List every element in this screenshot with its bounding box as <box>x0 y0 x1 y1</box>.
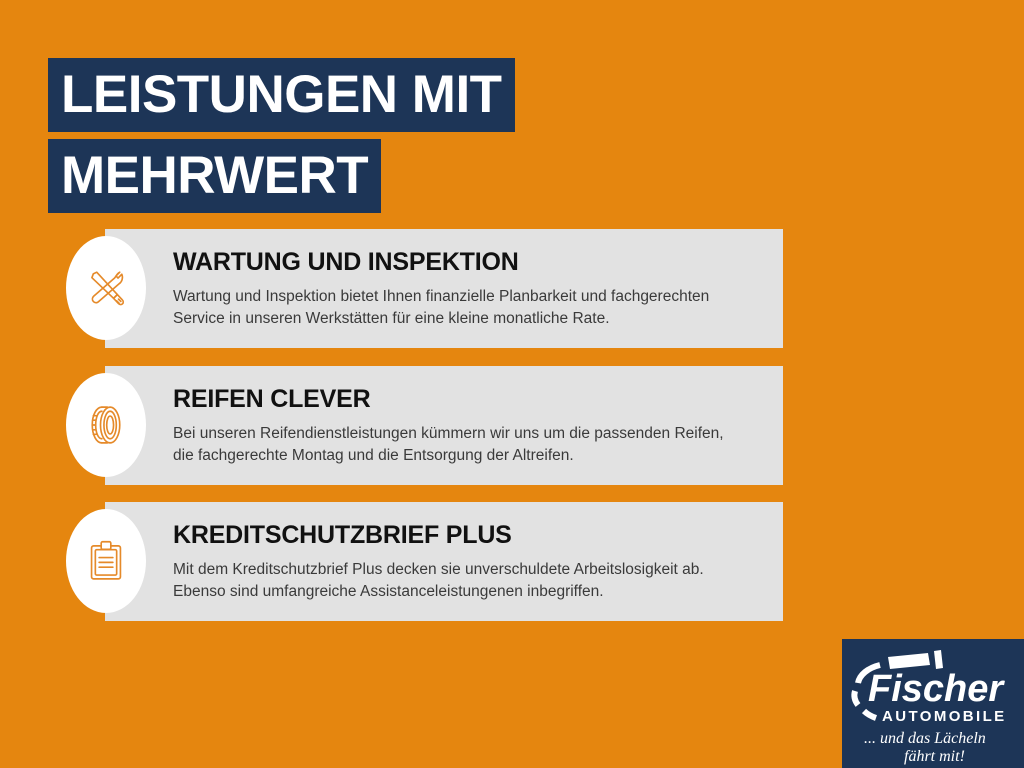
company-logo: Fischer AUTOMOBILE ... und das Lächeln f… <box>842 639 1024 768</box>
service-card-body: Mit dem Kreditschutzbrief Plus decken si… <box>173 559 759 604</box>
service-card-title: REIFEN CLEVER <box>173 386 759 414</box>
service-card-body: Wartung und Inspektion bietet Ihnen fina… <box>173 286 759 331</box>
logo-tagline-line2: fährt mit! <box>904 748 965 765</box>
logo-tagline-line1: ... und das Lächeln <box>864 730 986 747</box>
service-card-title: WARTUNG UND INSPEKTION <box>173 249 759 277</box>
headline-line-2: MEHRWERT <box>48 139 381 213</box>
page-title: LEISTUNGEN MIT MEHRWERT <box>48 58 515 213</box>
headline-line-1: LEISTUNGEN MIT <box>48 58 515 132</box>
slide-canvas: LEISTUNGEN MIT MEHRWERT WARTUNG UND INSP… <box>0 0 1024 768</box>
service-icon-badge <box>66 236 146 340</box>
service-card: KREDITSCHUTZBRIEF PLUS Mit dem Kreditsch… <box>105 502 783 621</box>
service-card: WARTUNG UND INSPEKTION Wartung und Inspe… <box>105 229 783 348</box>
logo-subtitle: AUTOMOBILE <box>882 708 1007 725</box>
tire-icon <box>84 403 128 447</box>
service-card: REIFEN CLEVER Bei unseren Reifendienstle… <box>105 366 783 485</box>
wrench-screwdriver-icon <box>84 266 128 310</box>
clipboard-icon <box>84 539 128 583</box>
service-card-title: KREDITSCHUTZBRIEF PLUS <box>173 522 759 550</box>
logo-wordmark: Fischer <box>868 668 1005 710</box>
service-icon-badge <box>66 373 146 477</box>
service-icon-badge <box>66 509 146 613</box>
service-card-body: Bei unseren Reifendienstleistungen kümme… <box>173 423 759 468</box>
logo-artwork: Fischer AUTOMOBILE ... und das Lächeln f… <box>842 639 1024 768</box>
